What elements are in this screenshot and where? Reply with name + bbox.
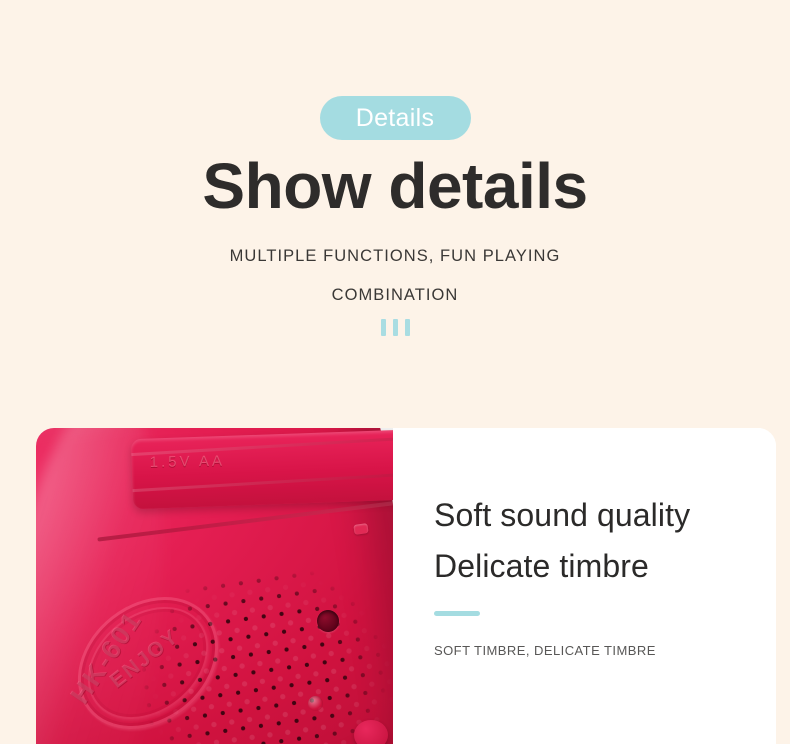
product-photo: 1.5V AA ENJOY HK-601 <box>36 428 393 744</box>
feature-heading-line-1: Soft sound quality <box>434 497 690 533</box>
page-title: Show details <box>0 153 790 220</box>
feature-card: 1.5V AA ENJOY HK-601 Soft sound quality … <box>36 428 776 744</box>
details-badge: Details <box>320 96 471 140</box>
accent-divider <box>434 611 480 616</box>
screw-dimple <box>308 696 323 711</box>
toy-bottom-bump <box>354 720 388 744</box>
feature-heading-line-2: Delicate timbre <box>434 548 649 584</box>
tick-marks-decoration <box>0 319 790 336</box>
feature-caption: SOFT TIMBRE, DELICATE TIMBRE <box>434 643 776 658</box>
tick-mark-2 <box>393 319 398 336</box>
tick-mark-1 <box>381 319 386 336</box>
lid-groove-bottom <box>131 469 393 493</box>
badge-row: Details <box>0 0 790 140</box>
feature-text-pane: Soft sound quality Delicate timbre SOFT … <box>393 428 776 744</box>
battery-emboss-text: 1.5V AA <box>150 453 226 471</box>
page-header: Details Show details MULTIPLE FUNCTIONS,… <box>0 0 790 336</box>
subtitle-line-1: MULTIPLE FUNCTIONS, FUN PLAYING <box>0 248 790 265</box>
battery-lid: 1.5V AA <box>131 429 393 509</box>
case-latch-nub <box>353 523 368 535</box>
subtitle-line-2: COMBINATION <box>0 287 790 304</box>
feature-heading: Soft sound quality Delicate timbre <box>434 490 776 591</box>
tick-mark-3 <box>405 319 410 336</box>
